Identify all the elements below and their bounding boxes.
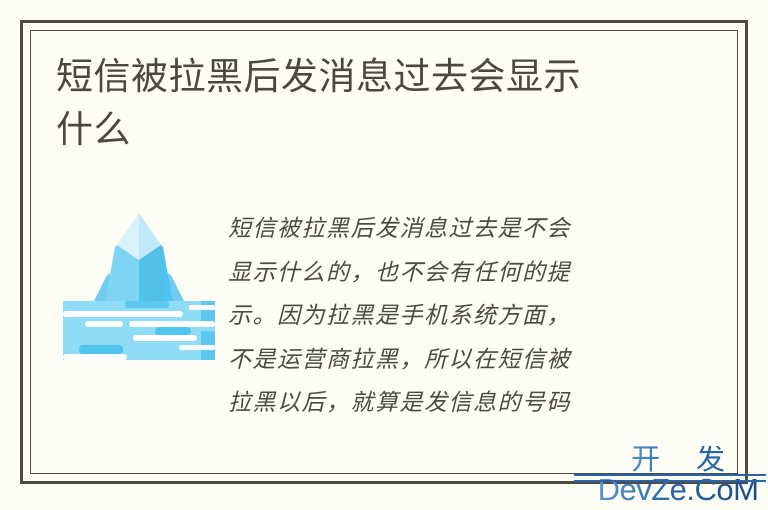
article-page: 短信被拉黑后发消息过去会显示 什么 — [0, 0, 768, 510]
article-body: 短信被拉黑后发消息过去是不会 显示什么的，也不会有任何的提 示。因为拉黑是手机系… — [228, 208, 658, 426]
watermark-en-text: DevZe.CoM — [590, 474, 766, 505]
watermark-rule-bottom — [574, 480, 766, 482]
article-body-line: 短信被拉黑后发消息过去是不会 — [228, 208, 658, 252]
watermark-rule-top — [574, 474, 766, 476]
page-title-line-1: 短信被拉黑后发消息过去会显示 — [56, 50, 676, 103]
iceberg-illustration — [63, 205, 215, 360]
article-body-line: 显示什么的，也不会有任何的提 — [228, 252, 658, 296]
site-watermark: 开 发 者 DevZe.CoM — [590, 446, 766, 504]
iceberg-icon — [63, 205, 215, 360]
article-content: 短信被拉黑后发消息过去是不会 显示什么的，也不会有任何的提 示。因为拉黑是手机系… — [56, 200, 696, 450]
article-body-line: 示。因为拉黑是手机系统方面， — [228, 295, 658, 339]
page-title: 短信被拉黑后发消息过去会显示 什么 — [56, 50, 676, 156]
article-body-line: 拉黑以后，就算是发信息的号码 — [228, 382, 658, 426]
article-body-line: 不是运营商拉黑，所以在短信被 — [228, 339, 658, 383]
page-title-line-2: 什么 — [56, 103, 676, 156]
